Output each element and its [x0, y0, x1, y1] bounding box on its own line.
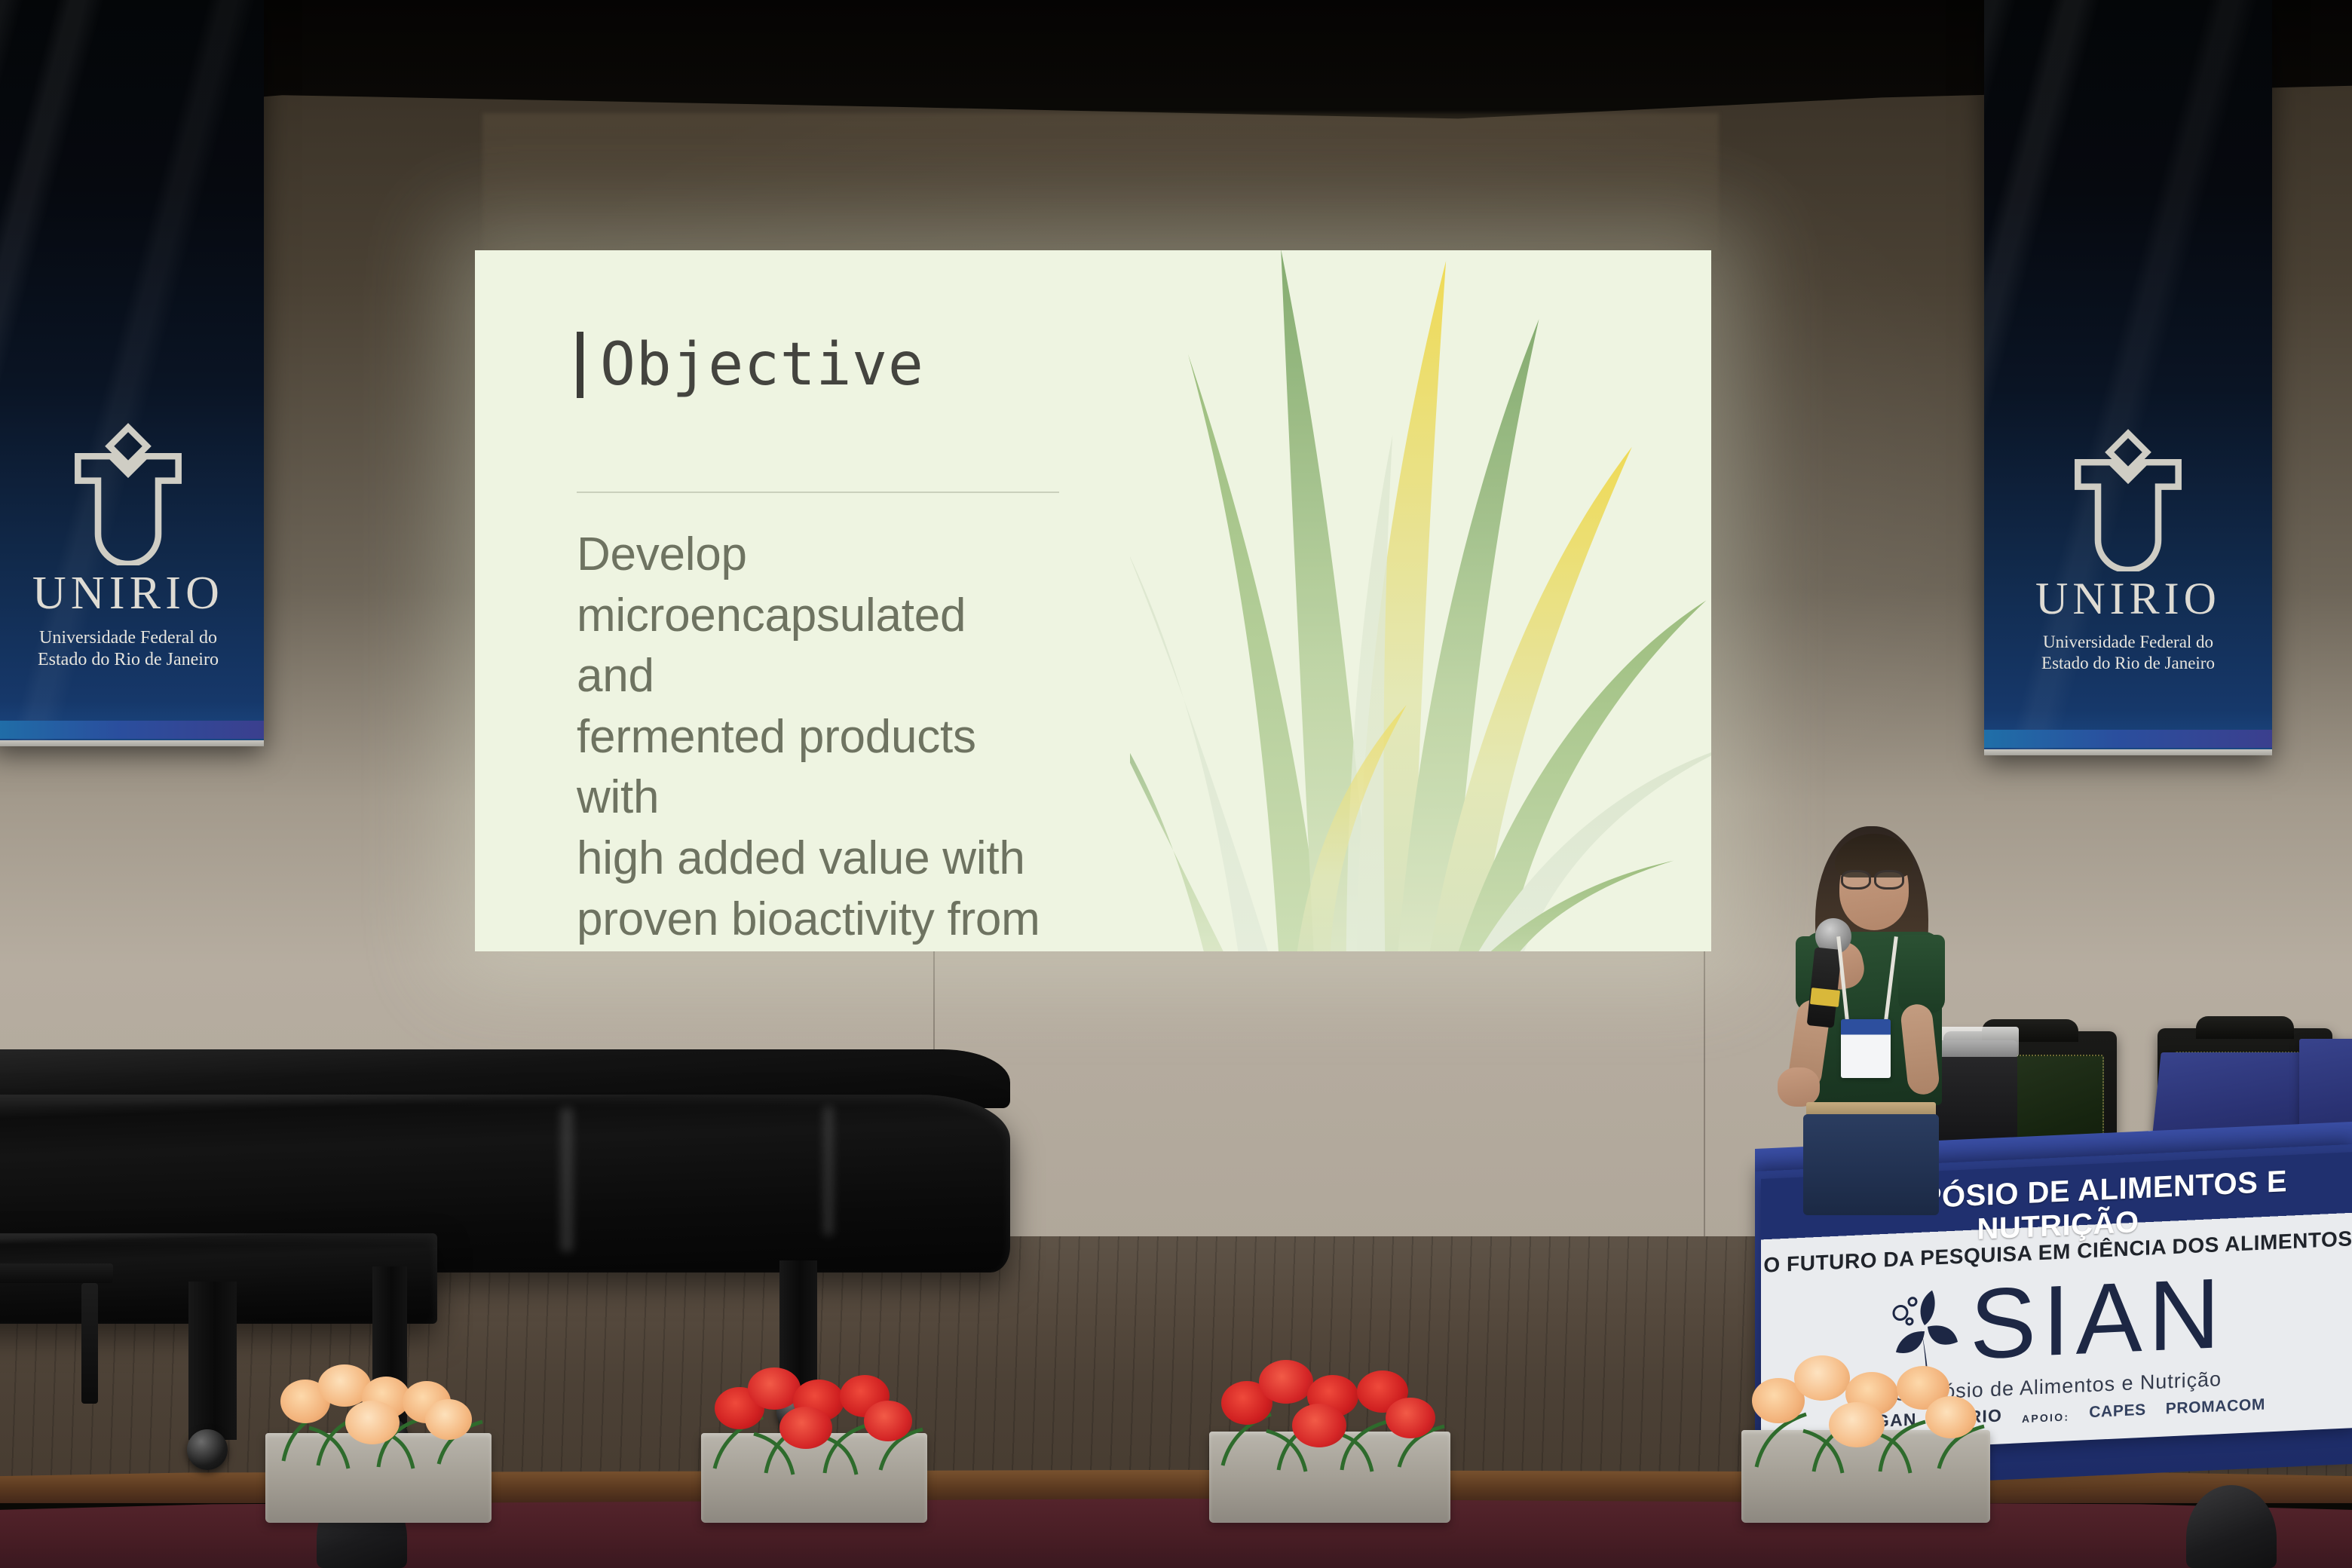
unirio-banner-left: UNIRIO Universidade Federal do Estado do…: [0, 0, 264, 746]
sponsor-promacom: PROMACOM: [2166, 1395, 2265, 1418]
unirio-subtitle-line1-right: Universidade Federal do: [1984, 632, 2272, 653]
flower-bloom: [1794, 1355, 1850, 1401]
slide-illustration-column: [1130, 250, 1711, 951]
unirio-wordmark-left: UNIRIO: [0, 570, 264, 617]
unirio-u-mark-icon: [1984, 421, 2272, 571]
sponsor-capes: CAPES: [2089, 1401, 2146, 1421]
flower-planter-right: [1741, 1351, 1990, 1523]
flower-bloom: [1829, 1402, 1885, 1447]
piano-bench-seat: [0, 1263, 113, 1283]
banner-hanger-left: [0, 740, 264, 746]
speaker-hand-left: [1778, 1067, 1820, 1107]
unirio-subtitle-line1-left: Universidade Federal do: [0, 627, 264, 649]
sian-wordmark: SIAN: [1970, 1269, 2226, 1370]
speaker-sleeve-right: [1898, 935, 1945, 1013]
flower-planter-center-right: [1209, 1354, 1450, 1523]
title-accent-bar: [577, 332, 583, 398]
slide-text-column: Objective Develop microencapsulated and …: [475, 250, 1130, 951]
slide-title-row: Objective: [577, 332, 1130, 398]
flower-planter-left: [265, 1357, 492, 1523]
banner-bottom-band-left: [0, 721, 264, 739]
flower-bloom: [425, 1399, 472, 1440]
projector-spill-shadow: [482, 113, 1719, 256]
piano-leg: [188, 1282, 237, 1440]
slide-body-line: proven bioactivity from: [577, 890, 1044, 951]
slide-divider-rule: [577, 492, 1059, 493]
support-label: APOIO:: [2022, 1410, 2069, 1425]
slide-body-line: Develop: [577, 525, 1044, 586]
chair-crest: [2196, 1016, 2294, 1039]
slide-body-text: Develop microencapsulated and fermented …: [577, 525, 1044, 951]
slide-title: Objective: [600, 335, 924, 394]
flower-planter-center-left: [701, 1357, 927, 1523]
photo-scene: Objective Develop microencapsulated and …: [0, 0, 2352, 1568]
flower-bloom: [1386, 1398, 1435, 1438]
speaker-jeans: [1803, 1114, 1939, 1215]
pineapple-crown-icon: [1130, 250, 1711, 951]
piano-highlight: [558, 1108, 576, 1251]
slide-body-line: microencapsulated and: [577, 586, 1044, 707]
unirio-wordmark-right: UNIRIO: [1984, 576, 2272, 621]
projected-slide: Objective Develop microencapsulated and …: [475, 250, 1711, 951]
conference-badge: [1841, 1019, 1891, 1078]
speaker: [1756, 822, 1983, 1214]
piano-highlight: [822, 1107, 835, 1235]
eyeglasses-icon: [1874, 870, 1904, 890]
flower-bloom: [345, 1401, 400, 1444]
banner-bottom-band-right: [1984, 730, 2272, 748]
microphone-band: [1810, 988, 1840, 1007]
flower-bloom: [864, 1401, 912, 1441]
unirio-subtitle-line2-left: Estado do Rio de Janeiro: [0, 649, 264, 671]
piano-caster: [187, 1429, 228, 1470]
slide-body-line: fermented products with: [577, 707, 1044, 828]
eyeglasses-icon: [1841, 870, 1871, 890]
unirio-banner-right: UNIRIO Universidade Federal do Estado do…: [1984, 0, 2272, 755]
slide-body-line: the pineapple crown: [577, 950, 1044, 951]
flower-bloom: [1292, 1404, 1346, 1447]
flower-bloom: [1925, 1396, 1977, 1438]
unirio-subtitle-line2-right: Estado do Rio de Janeiro: [1984, 653, 2272, 674]
unirio-u-mark-icon: [0, 415, 264, 565]
flower-bloom: [1259, 1360, 1313, 1404]
piano-bench-leg: [81, 1283, 98, 1404]
slide-body-line: high added value with: [577, 828, 1044, 890]
banner-hanger-right: [1984, 749, 2272, 755]
flower-bloom: [779, 1407, 832, 1449]
